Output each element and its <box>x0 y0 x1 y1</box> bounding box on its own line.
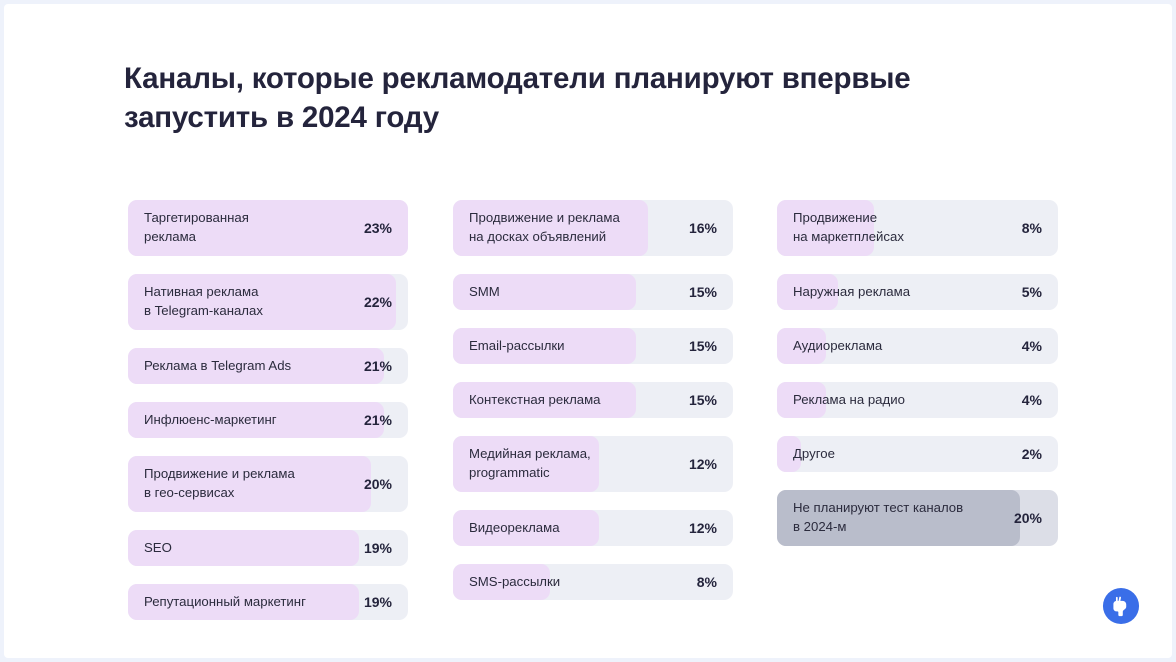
bar-row: Нативная реклама в Telegram-каналах22% <box>128 274 408 330</box>
bar-row: Инфлюенс-маркетинг21% <box>128 402 408 438</box>
bar-label: Видеореклама <box>453 519 689 538</box>
bar-column-3: Продвижение на маркетплейсах8%Наружная р… <box>777 200 1058 638</box>
bar-value: 4% <box>1022 338 1058 354</box>
bar-value: 12% <box>689 520 733 536</box>
bar-row: Наружная реклама5% <box>777 274 1058 310</box>
bar-row: Аудиореклама4% <box>777 328 1058 364</box>
bar-row: SEO19% <box>128 530 408 566</box>
bar-label: Наружная реклама <box>777 283 1022 302</box>
slide-canvas: Каналы, которые рекламодатели планируют … <box>4 4 1172 658</box>
bar-row: SMS-рассылки8% <box>453 564 733 600</box>
bar-chart: Таргетированная реклама23%Нативная рекла… <box>4 200 1172 638</box>
bar-row: Продвижение и реклама на досках объявлен… <box>453 200 733 256</box>
bar-row: Другое2% <box>777 436 1058 472</box>
bar-row: Продвижение на маркетплейсах8% <box>777 200 1058 256</box>
bar-value: 20% <box>364 476 408 492</box>
bar-value: 15% <box>689 284 733 300</box>
bar-value: 8% <box>1022 220 1058 236</box>
page-title: Каналы, которые рекламодатели планируют … <box>124 60 1024 138</box>
bar-label: SMS-рассылки <box>453 573 697 592</box>
bar-label: Репутационный маркетинг <box>128 593 364 612</box>
bar-label: Другое <box>777 445 1022 464</box>
bar-value: 19% <box>364 594 408 610</box>
bar-label: Реклама в Telegram Ads <box>128 357 364 376</box>
bar-value: 15% <box>689 338 733 354</box>
bar-label: SMM <box>453 283 689 302</box>
bar-value: 8% <box>697 574 733 590</box>
bar-label: Медийная реклама, programmatic <box>453 445 689 482</box>
bar-label: Продвижение и реклама в гео-сервисах <box>128 465 364 502</box>
bar-label: Контекстная реклама <box>453 391 689 410</box>
bar-row: Реклама в Telegram Ads21% <box>128 348 408 384</box>
bar-value: 22% <box>364 294 408 310</box>
bar-value: 12% <box>689 456 733 472</box>
llama-logo-icon <box>1102 587 1140 625</box>
bar-label: SEO <box>128 539 364 558</box>
bar-value: 5% <box>1022 284 1058 300</box>
bar-value: 23% <box>364 220 408 236</box>
bar-label: Реклама на радио <box>777 391 1022 410</box>
bar-column-2: Продвижение и реклама на досках объявлен… <box>453 200 733 638</box>
bar-value: 4% <box>1022 392 1058 408</box>
bar-label: Инфлюенс-маркетинг <box>128 411 364 430</box>
bar-value: 21% <box>364 358 408 374</box>
bar-label: Не планируют тест каналов в 2024-м <box>777 499 1014 536</box>
bar-row: Репутационный маркетинг19% <box>128 584 408 620</box>
bar-row: Медийная реклама, programmatic12% <box>453 436 733 492</box>
bar-value: 20% <box>1014 510 1058 526</box>
bar-value: 21% <box>364 412 408 428</box>
bar-row: Не планируют тест каналов в 2024-м20% <box>777 490 1058 546</box>
bar-column-1: Таргетированная реклама23%Нативная рекла… <box>128 200 408 638</box>
bar-value: 2% <box>1022 446 1058 462</box>
bar-label: Таргетированная реклама <box>128 209 364 246</box>
bar-label: Аудиореклама <box>777 337 1022 356</box>
bar-row: Реклама на радио4% <box>777 382 1058 418</box>
bar-label: Продвижение и реклама на досках объявлен… <box>453 209 689 246</box>
bar-value: 19% <box>364 540 408 556</box>
bar-row: Продвижение и реклама в гео-сервисах20% <box>128 456 408 512</box>
bar-row: Таргетированная реклама23% <box>128 200 408 256</box>
bar-row: Видеореклама12% <box>453 510 733 546</box>
bar-label: Продвижение на маркетплейсах <box>777 209 1022 246</box>
bar-label: Email-рассылки <box>453 337 689 356</box>
bar-row: SMM15% <box>453 274 733 310</box>
bar-label: Нативная реклама в Telegram-каналах <box>128 283 364 320</box>
bar-row: Email-рассылки15% <box>453 328 733 364</box>
bar-value: 15% <box>689 392 733 408</box>
bar-value: 16% <box>689 220 733 236</box>
bar-row: Контекстная реклама15% <box>453 382 733 418</box>
